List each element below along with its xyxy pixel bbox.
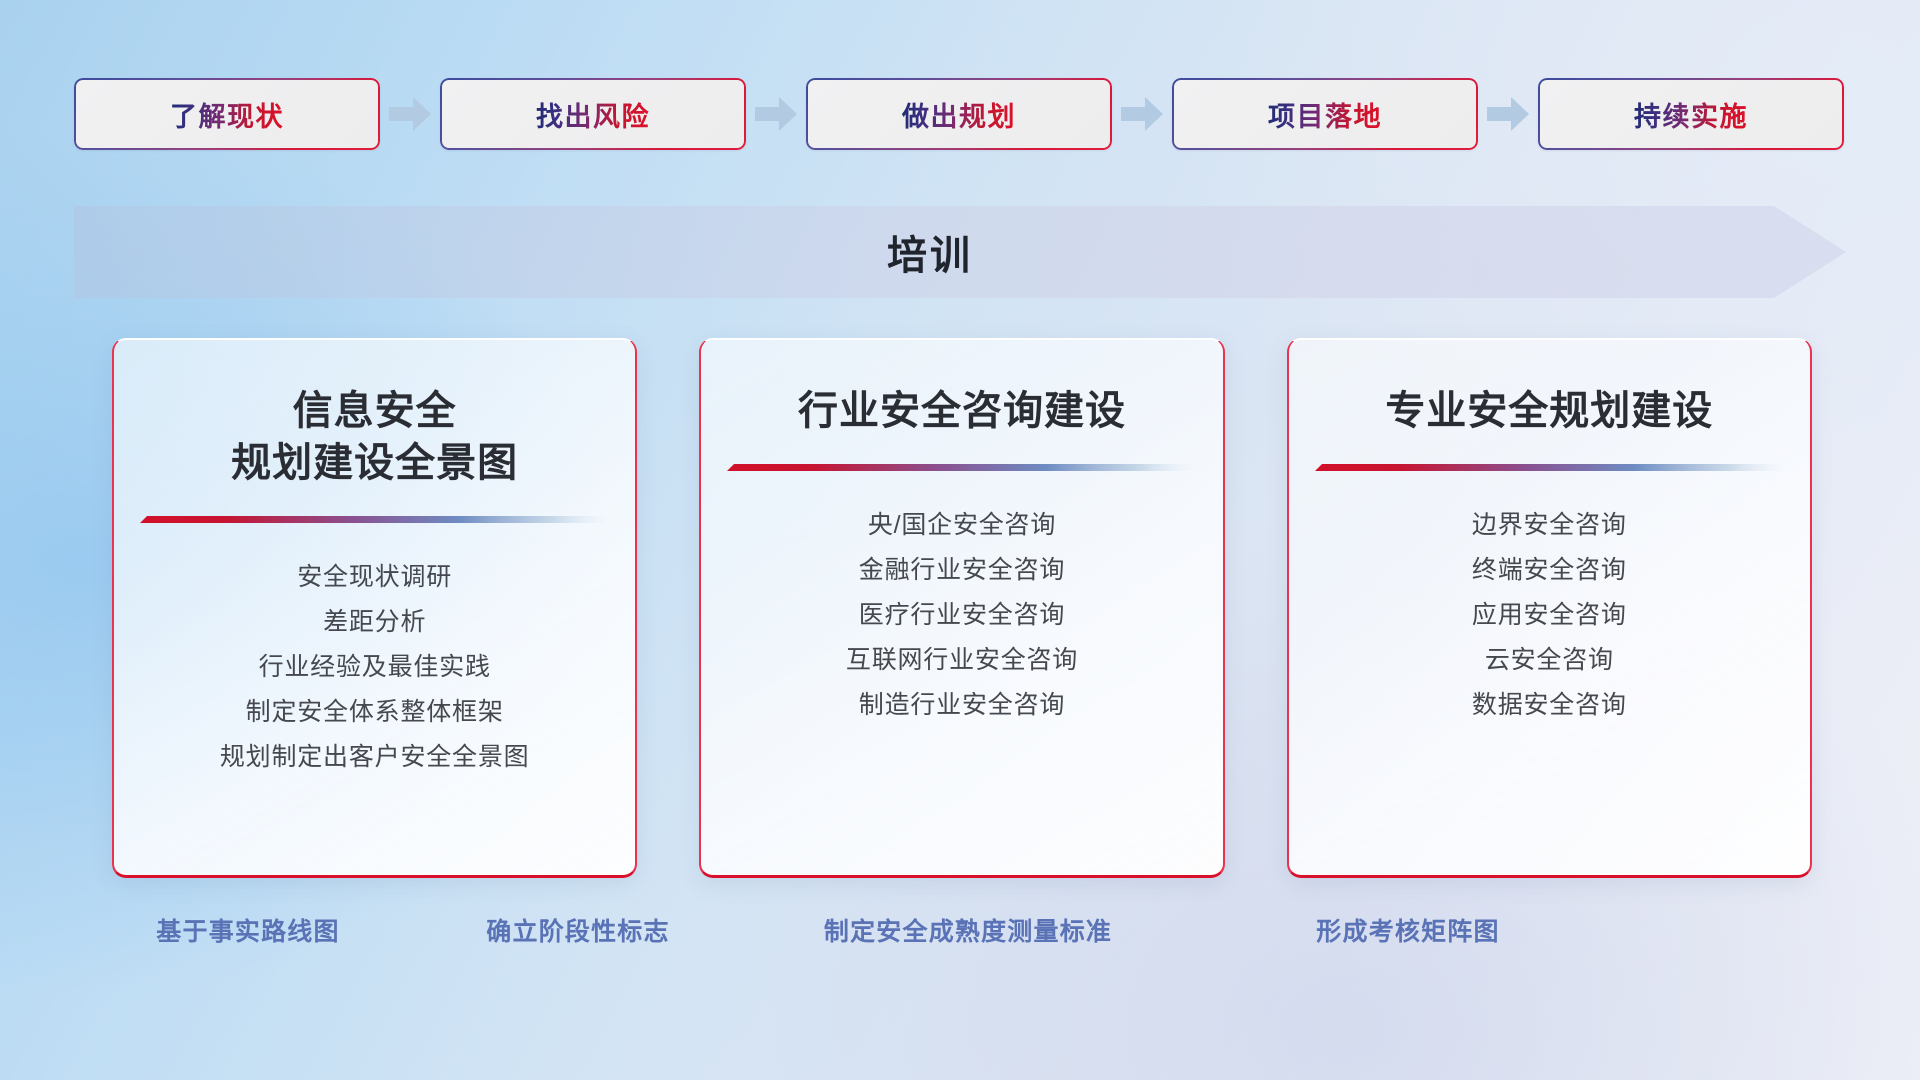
card-title: 信息安全 规划建设全景图: [231, 385, 518, 489]
card-divider-accent: [1315, 459, 1784, 473]
card-row: 信息安全 规划建设全景图安全现状调研差距分析行业经验及最佳实践制定安全体系整体框…: [112, 338, 1812, 878]
footer-label-2: 确立阶段性标志: [486, 912, 669, 948]
card-title: 专业安全规划建设: [1385, 385, 1713, 437]
list-item: 安全现状调研: [140, 555, 609, 600]
footer-label-4: 形成考核矩阵图: [1316, 912, 1499, 948]
list-item: 差距分析: [140, 600, 609, 645]
slide-canvas: 了解现状找出风险做出规划项目落地持续实施 培训 信息安全 规划建设全景图安全现状…: [0, 0, 1920, 1080]
list-item: 制造行业安全咨询: [727, 683, 1196, 728]
step-label: 项目落地: [1268, 95, 1382, 134]
step-box-3[interactable]: 做出规划: [806, 78, 1112, 150]
card-divider-accent: [727, 459, 1196, 473]
arrow-right-icon: [380, 91, 440, 137]
list-item: 互联网行业安全咨询: [727, 638, 1196, 683]
step-box-2[interactable]: 找出风险: [440, 78, 746, 150]
list-item: 规划制定出客户安全全景图: [140, 735, 609, 780]
card-item-list: 央/国企安全咨询金融行业安全咨询医疗行业安全咨询互联网行业安全咨询制造行业安全咨…: [727, 503, 1196, 728]
step-label: 找出风险: [536, 95, 650, 134]
list-item: 应用安全咨询: [1315, 593, 1784, 638]
arrow-right-icon: [1478, 91, 1538, 137]
card-item-list: 安全现状调研差距分析行业经验及最佳实践制定安全体系整体框架规划制定出客户安全全景…: [140, 555, 609, 780]
card-divider-accent: [140, 511, 609, 525]
card-title: 行业安全咨询建设: [798, 385, 1126, 437]
service-card-2[interactable]: 行业安全咨询建设央/国企安全咨询金融行业安全咨询医疗行业安全咨询互联网行业安全咨…: [699, 338, 1224, 878]
list-item: 央/国企安全咨询: [727, 503, 1196, 548]
list-item: 医疗行业安全咨询: [727, 593, 1196, 638]
service-card-3[interactable]: 专业安全规划建设边界安全咨询终端安全咨询应用安全咨询云安全咨询数据安全咨询: [1287, 338, 1812, 878]
list-item: 数据安全咨询: [1315, 683, 1784, 728]
list-item: 终端安全咨询: [1315, 548, 1784, 593]
list-item: 边界安全咨询: [1315, 503, 1784, 548]
list-item: 制定安全体系整体框架: [140, 690, 609, 735]
list-item: 云安全咨询: [1315, 638, 1784, 683]
process-step-row: 了解现状找出风险做出规划项目落地持续实施: [74, 78, 1846, 150]
list-item: 行业经验及最佳实践: [140, 645, 609, 690]
list-item: 金融行业安全咨询: [727, 548, 1196, 593]
step-box-5[interactable]: 持续实施: [1538, 78, 1844, 150]
step-box-4[interactable]: 项目落地: [1172, 78, 1478, 150]
step-label: 持续实施: [1634, 95, 1748, 134]
banner-title: 培训: [74, 206, 1846, 298]
training-banner: 培训: [74, 206, 1846, 298]
footer-label-row: 基于事实路线图确立阶段性标志制定安全成熟度测量标准形成考核矩阵图: [0, 912, 1920, 962]
arrow-right-icon: [746, 91, 806, 137]
step-label: 做出规划: [902, 95, 1016, 134]
footer-label-3: 制定安全成熟度测量标准: [824, 912, 1112, 948]
footer-label-1: 基于事实路线图: [156, 912, 339, 948]
card-item-list: 边界安全咨询终端安全咨询应用安全咨询云安全咨询数据安全咨询: [1315, 503, 1784, 728]
service-card-1[interactable]: 信息安全 规划建设全景图安全现状调研差距分析行业经验及最佳实践制定安全体系整体框…: [112, 338, 637, 878]
arrow-right-icon: [1112, 91, 1172, 137]
step-box-1[interactable]: 了解现状: [74, 78, 380, 150]
step-label: 了解现状: [170, 95, 284, 134]
